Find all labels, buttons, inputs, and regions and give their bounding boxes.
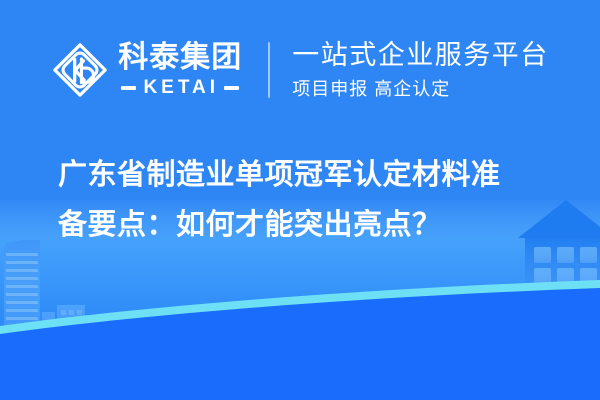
brand-logo[interactable]: 科泰集团 KETAI (51, 41, 242, 99)
headline-line-2: 备要点：如何才能突出亮点？ (58, 200, 542, 250)
brand-name-en-row: KETAI (121, 78, 239, 97)
brand-name-en: KETAI (141, 78, 219, 97)
banner-header: 科泰集团 KETAI 一站式企业服务平台 项目申报 高企认定 (0, 0, 600, 140)
logo-dash-left-icon (121, 86, 136, 90)
article-headline: 广东省制造业单项冠军认定材料准 备要点：如何才能突出亮点？ (0, 150, 600, 250)
promo-banner: 科泰集团 KETAI 一站式企业服务平台 项目申报 高企认定 广东省制造业单项冠… (0, 0, 600, 400)
bottom-wave-band (0, 280, 600, 400)
tagline-primary: 一站式企业服务平台 (292, 42, 549, 69)
header-divider (268, 42, 270, 98)
headline-line-1: 广东省制造业单项冠军认定材料准 (58, 150, 542, 200)
logo-dash-right-icon (224, 86, 239, 90)
ketai-kp-diamond-logo-icon (51, 41, 109, 99)
brand-name-cn: 科泰集团 (118, 43, 242, 73)
tagline-secondary: 项目申报 高企认定 (292, 80, 450, 98)
header-tagline: 一站式企业服务平台 项目申报 高企认定 (292, 42, 549, 98)
